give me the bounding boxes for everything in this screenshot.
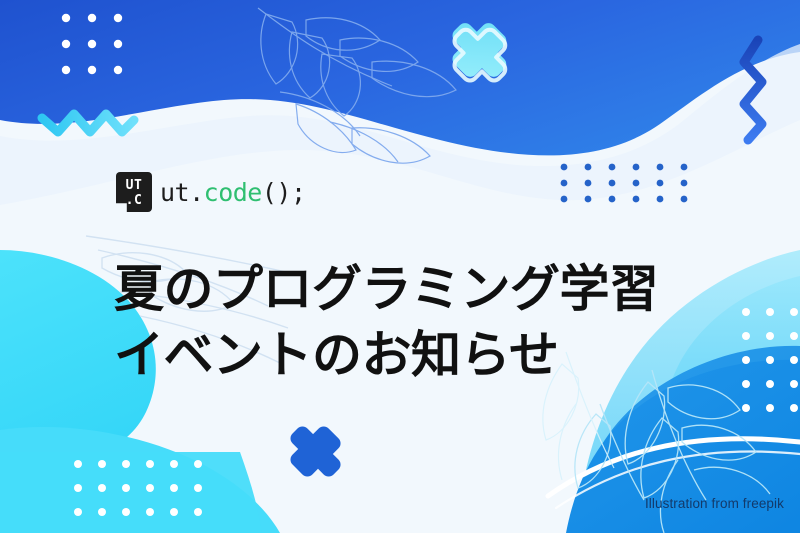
headline-line-2: イベントのお知らせ bbox=[114, 322, 659, 388]
logo-mark-bottom-text: .C bbox=[116, 194, 152, 207]
headline: 夏のプログラミング学習 イベントのお知らせ bbox=[114, 256, 659, 388]
wordmark-prefix: ut. bbox=[160, 178, 204, 207]
illustration-credit: Illustration from freepik bbox=[645, 496, 784, 511]
brand-lockup: UT .C ut.code(); bbox=[116, 172, 306, 212]
wordmark-suffix: (); bbox=[262, 178, 306, 207]
logo-mark-top-text: UT bbox=[116, 179, 152, 192]
ut-code-logo-icon: UT .C bbox=[116, 172, 152, 212]
headline-line-1: 夏のプログラミング学習 bbox=[114, 256, 659, 322]
brand-wordmark: ut.code(); bbox=[160, 180, 306, 205]
wordmark-highlight: code bbox=[204, 178, 262, 207]
promo-banner: UT .C ut.code(); 夏のプログラミング学習 イベントのお知らせ I… bbox=[0, 0, 800, 533]
